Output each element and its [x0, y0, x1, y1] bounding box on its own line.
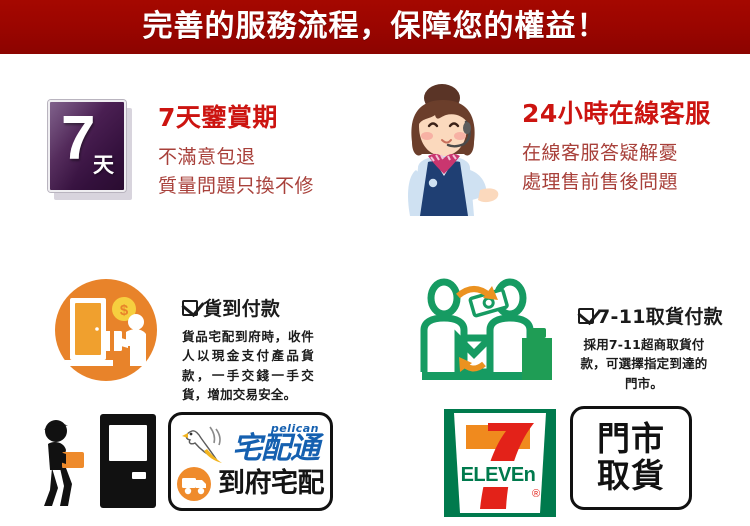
pelican-logo-group: pelican 宅配通 到府宅配 — [177, 423, 324, 501]
feature-heading: 7天鑒賞期 — [158, 104, 314, 133]
page-header-banner: 完善的服務流程，保障您的權益！ — [0, 0, 750, 54]
payment-seven-eleven-pickup: 7-11取貨付款 採用7-11超商取貨付款，可選擇指定到達的門市。 — [418, 276, 723, 393]
payment-body: 貨品宅配到府時，收件人以現金支付產品貨款，一手交錢一手交貨，增加交易安全。 — [182, 327, 314, 405]
checkbox-checked-icon — [182, 300, 198, 316]
payment-title-row: 7-11取貨付款 — [578, 302, 723, 329]
svg-text:$: $ — [120, 302, 129, 319]
seven-eleven-wordmark: ELEVEn — [461, 464, 536, 486]
badge-number: 7 — [61, 108, 95, 170]
feature-text-group: 24小時在線客服 在線客服答疑解憂 處理售前售後問題 — [522, 82, 711, 198]
feature-line-2: 處理售前售後問題 — [522, 168, 711, 197]
agent-illustration — [388, 82, 500, 222]
feature-line-2: 質量問題只換不修 — [158, 172, 314, 201]
seven-day-badge-icon: 7 天 — [48, 100, 132, 200]
checkbox-checked-icon — [578, 308, 594, 324]
feature-seven-day-return: 7 天 7天鑒賞期 不滿意包退 質量問題只換不修 — [48, 100, 314, 202]
cash-on-delivery-door-icon: $ — [52, 276, 160, 388]
payment-title: 7-11取貨付款 — [597, 302, 723, 329]
delivery-truck-icon — [177, 467, 211, 501]
customer-service-agent-icon — [388, 82, 500, 222]
store-pickup-line-2: 取貨 — [597, 458, 665, 495]
payment-title: 貨到付款 — [203, 294, 280, 321]
payment-text-group: 貨到付款 貨品宅配到府時，收件人以現金支付產品貨款，一手交錢一手交貨，增加交易安… — [182, 276, 314, 405]
truck-glyph — [177, 467, 211, 501]
pelican-bird-icon — [182, 423, 228, 465]
delivery-person-icon — [30, 418, 90, 512]
badge-plate: 7 天 — [48, 100, 126, 192]
pelican-courier-logo: pelican 宅配通 到府宅配 — [168, 412, 333, 511]
pelican-chinese-word: 宅配通 — [232, 434, 319, 464]
pelican-brand-row: pelican 宅配通 — [182, 423, 319, 465]
feature-line-1: 在線客服答疑解憂 — [522, 139, 711, 168]
payment-title-row: 貨到付款 — [182, 294, 314, 321]
store-pickup-logo-box: 門市 取貨 — [570, 406, 692, 510]
trademark-symbol: ® — [532, 488, 540, 500]
promo-banner-page: 完善的服務流程，保障您的權益！ 7 天 7天鑒賞期 不滿意包退 質量問題只換不修 — [0, 0, 750, 526]
seven-eleven-logo-graphic: ELEVEn ® — [444, 409, 556, 517]
badge-unit: 天 — [93, 155, 114, 176]
feature-text-group: 7天鑒賞期 不滿意包退 質量問題只換不修 — [158, 100, 314, 202]
feature-24h-service: 24小時在線客服 在線客服答疑解憂 處理售前售後問題 — [388, 82, 711, 222]
store-pickup-label: 門市 取貨 — [597, 421, 665, 495]
pelican-wordmark-stack: pelican 宅配通 — [232, 423, 319, 464]
store-pickup-illustration — [418, 276, 558, 384]
feature-heading: 24小時在線客服 — [522, 100, 711, 129]
cod-illustration: $ — [52, 276, 160, 384]
store-pickup-line-1: 門市 — [597, 421, 665, 458]
payment-cash-on-delivery: $ 貨到付款 貨品宅配到府時，收件人以現金支付產品貨款，一手交錢一手交貨，增加交… — [52, 276, 314, 405]
payment-body: 採用7-11超商取貨付款，可選擇指定到達的門市。 — [578, 335, 710, 393]
pelican-service-label: 到府宅配 — [218, 470, 324, 497]
feature-line-1: 不滿意包退 — [158, 143, 314, 172]
payment-text-group: 7-11取貨付款 採用7-11超商取貨付款，可選擇指定到達的門市。 — [578, 276, 723, 393]
pelican-service-row: 到府宅配 — [177, 467, 324, 501]
page-title: 完善的服務流程，保障您的權益！ — [143, 12, 608, 42]
seven-eleven-counter-pickup-icon — [418, 276, 558, 388]
door-icon — [98, 412, 158, 514]
walker-illustration — [30, 418, 90, 508]
door-illustration — [98, 412, 158, 510]
seven-eleven-logo-icon: ELEVEn ® — [444, 409, 556, 521]
